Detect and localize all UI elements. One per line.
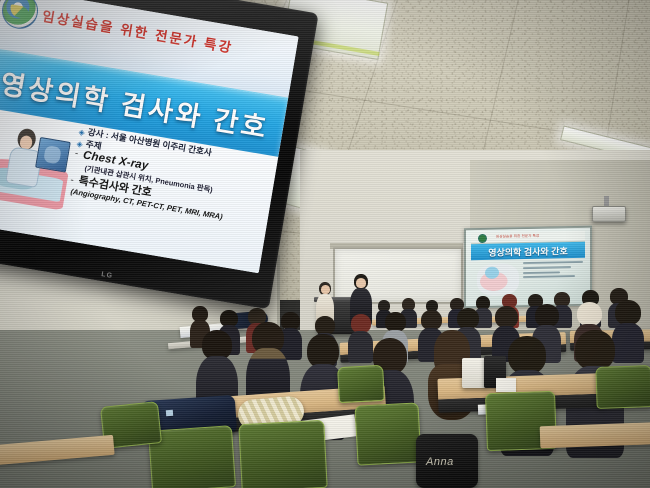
head xyxy=(307,334,339,368)
dash-bullet-icon: - xyxy=(70,175,75,185)
diamond-bullet-icon: ◈ xyxy=(78,128,85,137)
head xyxy=(508,336,546,374)
tote-papers xyxy=(496,378,516,392)
radiology-exam-illustration xyxy=(0,115,76,216)
wall-mounted-tv[interactable]: LG 임상실습을 위한 전문가 특강 영상의학 검사와 간호 xyxy=(0,0,319,309)
chair xyxy=(238,420,327,488)
projection-title-text: 영상의학 검사와 간호 xyxy=(488,244,568,259)
head xyxy=(615,300,641,325)
projection-slide-title: 영상의학 검사와 간호 xyxy=(471,242,585,260)
head xyxy=(577,302,602,326)
ceiling-projector xyxy=(592,206,626,222)
presentation-slide: 임상실습을 위한 전문가 특강 영상의학 검사와 간호 xyxy=(0,0,299,273)
head xyxy=(575,330,615,370)
white-tote-bag xyxy=(462,358,486,388)
projection-body-lines xyxy=(523,261,583,281)
university-crest-icon xyxy=(478,233,487,242)
chair xyxy=(354,402,421,465)
dash-bullet-icon: - xyxy=(74,149,79,159)
desk xyxy=(540,422,650,449)
lecture-hall-photo: 임상실습을 위한 전문가 특강 영상의학 검사와 간호 xyxy=(0,0,650,488)
projection-illustration xyxy=(477,263,519,296)
head xyxy=(457,308,479,329)
presenter-face xyxy=(321,285,330,294)
chair xyxy=(595,365,650,409)
head xyxy=(385,312,406,332)
chair xyxy=(337,365,385,403)
black-tote-bag: Anna xyxy=(416,434,478,488)
presenter-face xyxy=(356,278,366,288)
head xyxy=(535,304,559,327)
projection-header-text: 임상실습을 위한 전문가 특강 xyxy=(496,232,539,238)
tote-bag-label: Anna xyxy=(426,456,454,468)
head xyxy=(495,306,518,328)
xray-film-icon xyxy=(35,136,71,172)
university-crest-icon xyxy=(0,0,41,32)
head xyxy=(421,310,442,330)
tv-screen: 임상실습을 위한 전문가 특강 영상의학 검사와 간호 xyxy=(0,0,299,273)
backpack-tag xyxy=(166,410,173,416)
